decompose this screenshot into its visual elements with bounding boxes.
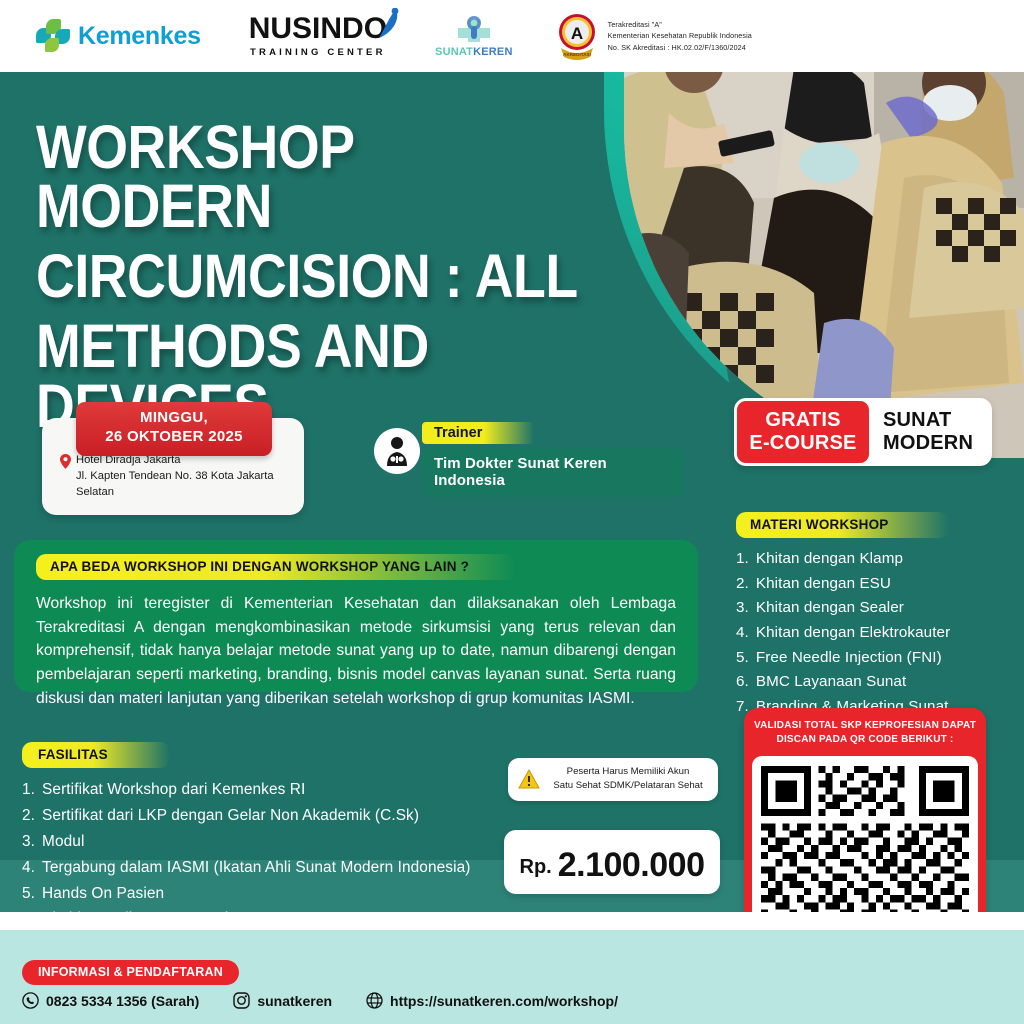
poster-title: WORKSHOP MODERN CIRCUMCISION : ALL METHO… (36, 118, 599, 447)
nusindo-tagline: TRAINING CENTER (249, 47, 387, 58)
materi-item-text: Free Needle Injection (FNI) (756, 646, 942, 671)
qr-title: VALIDASI TOTAL SKP KEPROFESIAN DAPAT DIS… (752, 719, 978, 747)
event-date: 26 OKTOBER 2025 (80, 428, 268, 447)
sunat-keren-wordmark: SUNATKEREN (435, 46, 513, 58)
nusindo-swoosh-icon (375, 8, 401, 42)
header-logo-bar: Kemenkes NUSINDO TRAINING CENTER (0, 0, 1024, 72)
gratis-ecourse-badge: GRATIS E-COURSE SUNAT MODERN (734, 398, 992, 466)
gratis-line-1: GRATIS (765, 409, 840, 432)
logo-sunat-keren: SUNATKEREN (435, 14, 513, 58)
fasilitas-item-text: Modul (42, 829, 84, 855)
fasilitas-section: FASILITAS 1.Sertifikat Workshop dari Kem… (22, 742, 522, 932)
accreditation-block: A AKREDITASI Terakreditasi "A" Kementeri… (555, 12, 752, 60)
logo-nusindo: NUSINDO TRAINING CENTER (249, 14, 387, 58)
list-item: 4.Tergabung dalam IASMI (Ikatan Ahli Sun… (22, 855, 522, 881)
footer-badge: INFORMASI & PENDAFTARAN (22, 960, 239, 985)
materi-item-text: Khitan dengan Sealer (756, 596, 904, 621)
contact-instagram[interactable]: sunatkeren (233, 992, 332, 1009)
notice-line-2: Satu Sehat SDMK/Pelataran Sehat (548, 779, 708, 793)
date-badge: MINGGU, 26 OKTOBER 2025 (76, 402, 272, 456)
list-item: 2.Khitan dengan ESU (736, 572, 1016, 597)
list-item: 6.BMC Layanaan Sunat (736, 670, 1016, 695)
logo-kemenkes: Kemenkes (36, 19, 201, 53)
doctor-icon (383, 436, 411, 466)
instagram-handle: sunatkeren (257, 993, 332, 1009)
list-item: 3.Modul (22, 829, 522, 855)
warning-icon (518, 769, 540, 789)
price-amount: 2.100.000 (558, 846, 705, 885)
qr-title-line-2: DISCAN PADA QR CODE BERIKUT : (752, 733, 978, 747)
venue-text: Hotel Diradja Jakarta Jl. Kapten Tendean… (76, 452, 288, 501)
instagram-icon (233, 992, 250, 1009)
contact-website[interactable]: https://sunatkeren.com/workshop/ (366, 992, 618, 1009)
title-line-2: CIRCUMCISION : ALL (36, 247, 599, 306)
gratis-red-part: GRATIS E-COURSE (737, 401, 869, 463)
investasi-price-card: Rp. 2.100.000 (504, 830, 720, 894)
contact-whatsapp[interactable]: 0823 5334 1356 (Sarah) (22, 992, 199, 1009)
fasilitas-item-text: Hands On Pasien (42, 881, 164, 907)
title-line-1: WORKSHOP MODERN (36, 118, 599, 236)
date-venue-card: MINGGU, 26 OKTOBER 2025 Hotel Diradja Ja… (42, 418, 304, 515)
event-day: MINGGU, (80, 409, 268, 428)
location-pin-icon (60, 454, 71, 469)
accreditation-seal-icon: A AKREDITASI (555, 12, 599, 60)
poster-root: Kemenkes NUSINDO TRAINING CENTER (0, 0, 1024, 1024)
trainer-avatar (374, 428, 420, 474)
sunat-modern-part: SUNAT MODERN (883, 409, 973, 455)
apa-beda-panel: APA BEDA WORKSHOP INI DENGAN WORKSHOP YA… (14, 540, 698, 692)
apa-beda-body: Workshop ini teregister di Kementerian K… (36, 592, 676, 710)
fasilitas-item-text: Tergabung dalam IASMI (Ikatan Ahli Sunat… (42, 855, 470, 881)
whatsapp-icon (22, 992, 39, 1009)
account-requirement-notice: Peserta Harus Memiliki Akun Satu Sehat S… (508, 758, 718, 801)
white-separator (0, 912, 1024, 932)
accreditation-text: Terakreditasi "A" Kementerian Kesehatan … (608, 19, 752, 52)
materi-item-text: BMC Layanaan Sunat (756, 670, 906, 695)
qr-title-line-1: VALIDASI TOTAL SKP KEPROFESIAN DAPAT (752, 719, 978, 733)
materi-item-text: Khitan dengan Klamp (756, 547, 903, 572)
globe-icon (366, 992, 383, 1009)
accreditation-line-2: Kementerian Kesehatan Republik Indonesia (608, 30, 752, 41)
materi-list: 1.Khitan dengan Klamp 2.Khitan dengan ES… (736, 547, 1016, 719)
materi-item-text: Khitan dengan Elektrokauter (756, 621, 950, 646)
svg-text:AKREDITASI: AKREDITASI (563, 52, 591, 57)
list-item: 1.Khitan dengan Klamp (736, 547, 1016, 572)
list-item: 2.Sertifikat dari LKP dengan Gelar Non A… (22, 803, 522, 829)
notice-text: Peserta Harus Memiliki Akun Satu Sehat S… (548, 765, 708, 793)
svg-text:A: A (570, 24, 582, 43)
sunat-modern-line-1: SUNAT (883, 409, 973, 432)
fasilitas-item-text: Sertifikat dari LKP dengan Gelar Non Aka… (42, 803, 419, 829)
gratis-line-2: E-COURSE (749, 432, 856, 455)
sunat-keren-icon (456, 14, 492, 44)
list-item: 3.Khitan dengan Sealer (736, 596, 1016, 621)
list-item: 4.Khitan dengan Elektrokauter (736, 621, 1016, 646)
accreditation-line-3: No. SK Akreditasi : HK.02.02/F/1360/2024 (608, 42, 752, 53)
list-item: 5.Hands On Pasien (22, 881, 522, 907)
kemenkes-wordmark: Kemenkes (78, 22, 201, 51)
fasilitas-list: 1.Sertifikat Workshop dari Kemenkes RI 2… (22, 777, 522, 932)
venue-address: Jl. Kapten Tendean No. 38 Kota Jakarta S… (76, 468, 288, 500)
currency-label: Rp. (520, 856, 552, 879)
whatsapp-number: 0823 5334 1356 (Sarah) (46, 993, 199, 1009)
notice-line-1: Peserta Harus Memiliki Akun (548, 765, 708, 779)
materi-heading: MATERI WORKSHOP (736, 512, 949, 538)
website-url: https://sunatkeren.com/workshop/ (390, 993, 618, 1009)
nusindo-wordmark: NUSINDO (249, 14, 387, 44)
fasilitas-heading: FASILITAS (22, 742, 170, 768)
fasilitas-item-text: Sertifikat Workshop dari Kemenkes RI (42, 777, 305, 803)
materi-item-text: Khitan dengan ESU (756, 572, 891, 597)
kemenkes-icon (36, 19, 70, 53)
list-item: 5.Free Needle Injection (FNI) (736, 646, 1016, 671)
accreditation-line-1: Terakreditasi "A" (608, 19, 752, 30)
apa-beda-heading: APA BEDA WORKSHOP INI DENGAN WORKSHOP YA… (36, 554, 515, 580)
materi-workshop-section: MATERI WORKSHOP 1.Khitan dengan Klamp 2.… (736, 512, 1016, 719)
trainer-name: Tim Dokter Sunat Keren Indonesia (422, 448, 684, 497)
list-item: 1.Sertifikat Workshop dari Kemenkes RI (22, 777, 522, 803)
footer-bar: INFORMASI & PENDAFTARAN 0823 5334 1356 (… (0, 930, 1024, 1024)
footer-contacts: 0823 5334 1356 (Sarah) sunatkeren https:… (22, 992, 618, 1009)
sunat-modern-line-2: MODERN (883, 432, 973, 455)
trainer-label: Trainer (422, 422, 534, 444)
